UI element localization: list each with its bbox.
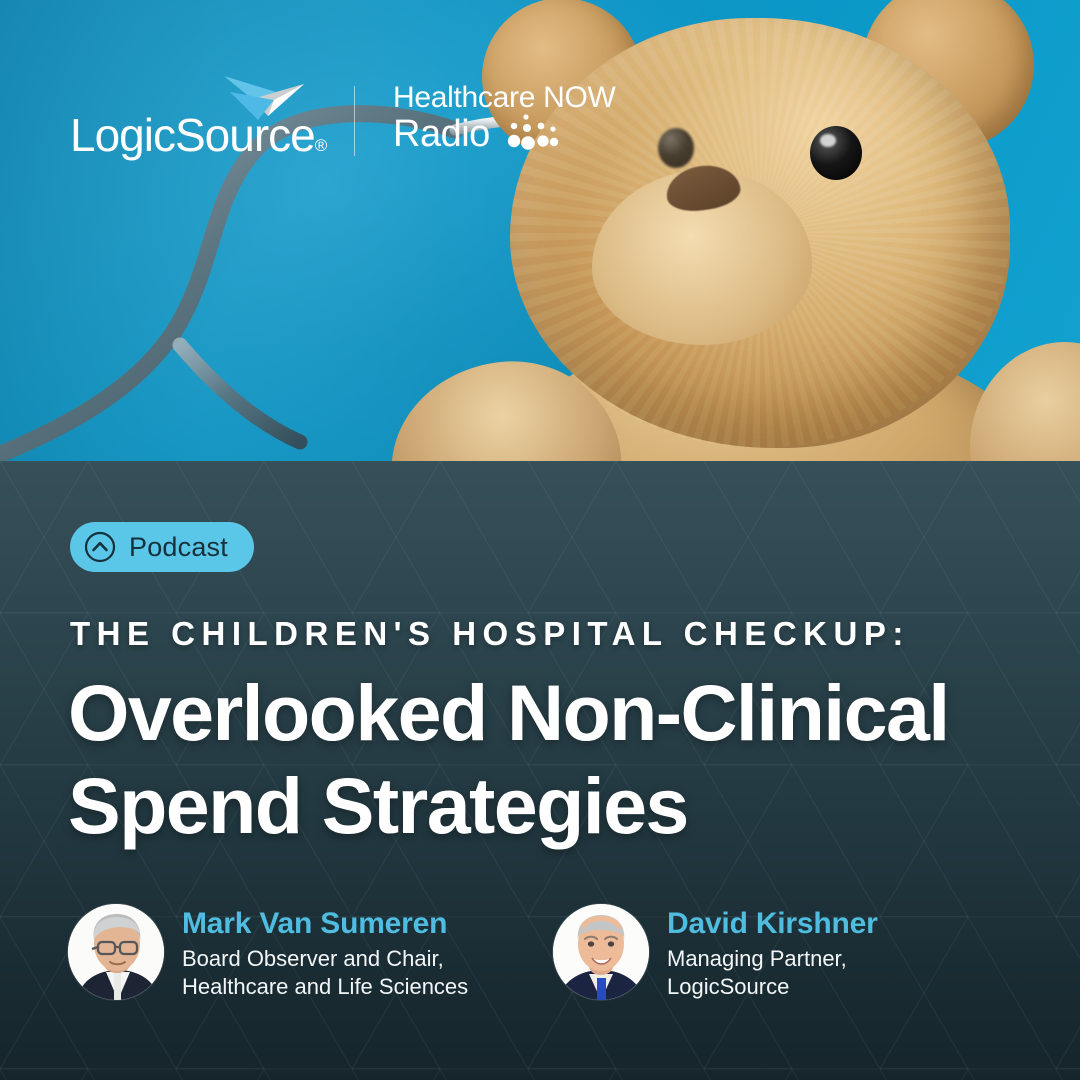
logicsource-logo[interactable]: LogicSource®	[70, 68, 320, 168]
registered-mark: ®	[315, 136, 327, 155]
chevron-up-circle-icon	[84, 531, 116, 563]
headline-line-1: Overlooked Non-Clinical	[68, 666, 1048, 759]
bear-arm-right	[970, 342, 1080, 461]
speaker-list: Mark Van Sumeren Board Observer and Chai…	[68, 904, 1028, 1002]
speaker-name: Mark Van Sumeren	[182, 907, 468, 941]
content-panel: Podcast THE CHILDREN'S HOSPITAL CHECKUP:…	[0, 461, 1080, 1080]
logicsource-wordmark: LogicSource®	[70, 108, 326, 162]
speaker-text: Mark Van Sumeren Board Observer and Chai…	[182, 904, 468, 1002]
healthcare-now-radio-logo[interactable]: Healthcare NOW Radio	[393, 83, 616, 154]
eyebrow-text: THE CHILDREN'S HOSPITAL CHECKUP:	[70, 615, 910, 653]
logo-divider	[354, 86, 355, 156]
podcast-badge-label: Podcast	[129, 532, 228, 563]
hnr-line-1: Healthcare NOW	[393, 83, 616, 114]
radio-dots-icon	[504, 113, 562, 153]
speaker-name: David Kirshner	[667, 907, 878, 941]
logicsource-wordmark-text: LogicSource	[70, 109, 315, 161]
podcast-badge[interactable]: Podcast	[70, 522, 254, 572]
speaker-item: Mark Van Sumeren Board Observer and Chai…	[68, 904, 553, 1002]
speaker-role-line-1: Managing Partner,	[667, 945, 878, 974]
headshot-mark-van-sumeren	[68, 904, 164, 1000]
avatar	[68, 904, 164, 1000]
headshot-david-kirshner	[553, 904, 649, 1000]
avatar	[553, 904, 649, 1000]
speaker-item: David Kirshner Managing Partner, LogicSo…	[553, 904, 878, 1002]
bear-eye-right	[810, 126, 862, 180]
page-title: Overlooked Non-Clinical Spend Strategies	[68, 666, 1048, 852]
logo-lockup: LogicSource® Healthcare NOW Radio	[70, 68, 616, 168]
speaker-role-line-1: Board Observer and Chair,	[182, 945, 468, 974]
bear-eye-left	[658, 128, 694, 168]
hero-photo: LogicSource® Healthcare NOW Radio	[0, 0, 1080, 461]
headline-line-2: Spend Strategies	[68, 759, 1048, 852]
speaker-role-line-2: LogicSource	[667, 973, 878, 1002]
hnr-line-2: Radio	[393, 115, 490, 154]
speaker-text: David Kirshner Managing Partner, LogicSo…	[667, 904, 878, 1002]
speaker-role-line-2: Healthcare and Life Sciences	[182, 973, 468, 1002]
podcast-promo-card: LogicSource® Healthcare NOW Radio	[0, 0, 1080, 1080]
